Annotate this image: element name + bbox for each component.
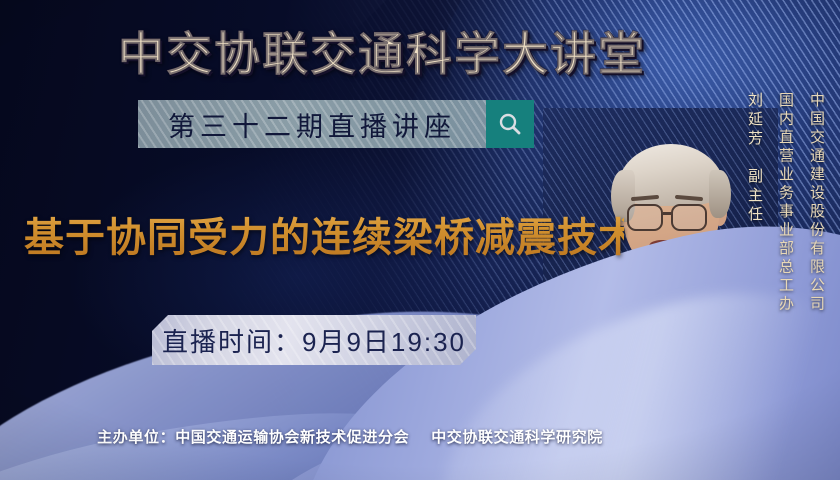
speaker-name: 刘延芳 — [746, 92, 763, 149]
lecture-poster: 中交协联交通科学大讲堂 第三十二期直播讲座 基于协同受力的连续梁桥减震技术 直播… — [0, 0, 840, 480]
footer-prefix: 主办单位： — [97, 429, 175, 446]
speaker-affiliation-block: 中国交通建设股份有限公司 国内直营业务事业部总工办 刘延芳 副主任 — [739, 92, 832, 314]
session-banner: 第三十二期直播讲座 — [138, 100, 534, 148]
footer-organizer-1: 中国交通运输协会新技术促进分会 — [175, 429, 409, 446]
session-banner-body: 第三十二期直播讲座 — [138, 100, 486, 148]
session-label: 第三十二期直播讲座 — [168, 105, 456, 144]
footer-organizers: 主办单位：中国交通运输协会新技术促进分会中交协联交通科学研究院 — [0, 426, 700, 447]
search-icon[interactable] — [486, 100, 534, 148]
lecture-topic: 基于协同受力的连续梁桥减震技术 — [24, 205, 624, 263]
broadcast-time-badge: 直播时间：9月9日19:30 — [152, 315, 476, 365]
speaker-company: 中国交通建设股份有限公司 — [801, 92, 832, 314]
broadcast-time-text: 直播时间：9月9日19:30 — [162, 322, 466, 359]
page-title: 中交协联交通科学大讲堂 — [118, 18, 718, 84]
speaker-department: 国内直营业务事业部总工办 — [770, 92, 801, 314]
speaker-title: 副主任 — [746, 168, 763, 225]
footer-organizer-2: 中交协联交通科学研究院 — [431, 429, 603, 446]
speaker-name-and-title: 刘延芳 副主任 — [739, 92, 770, 225]
